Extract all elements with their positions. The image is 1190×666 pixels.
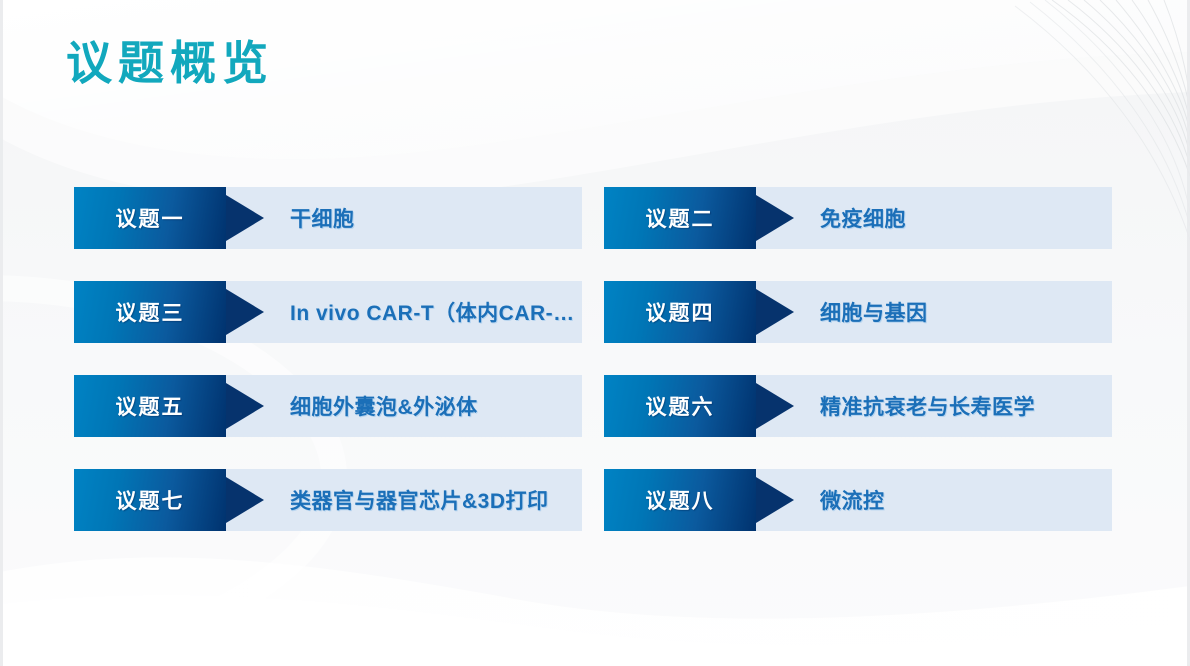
arrow-right-icon	[756, 383, 794, 429]
arrow-right-icon	[226, 289, 264, 335]
topic-title: 精准抗衰老与长寿医学	[820, 391, 1035, 421]
topic-text-wrap: 精准抗衰老与长寿医学	[756, 375, 1112, 437]
arrow-right-icon	[226, 477, 264, 523]
topic-tag: 议题六	[604, 375, 756, 437]
topic-row[interactable]: 议题三 In vivo CAR-T（体内CAR-T）	[74, 281, 582, 343]
topic-tag-label: 议题六	[646, 391, 715, 421]
topic-title: 类器官与器官芯片&3D打印	[290, 485, 549, 515]
topic-title: 微流控	[820, 485, 885, 515]
topic-row[interactable]: 议题一 干细胞	[74, 187, 582, 249]
topic-tag: 议题三	[74, 281, 226, 343]
topic-grid: 议题一 干细胞 议题二 免疫细胞 议题三 In vivo CAR-T（体内CAR…	[74, 187, 1114, 531]
arrow-right-icon	[756, 289, 794, 335]
topic-row[interactable]: 议题七 类器官与器官芯片&3D打印	[74, 469, 582, 531]
topic-tag-label: 议题二	[646, 203, 715, 233]
topic-tag: 议题二	[604, 187, 756, 249]
arrow-right-icon	[226, 195, 264, 241]
topic-tag-label: 议题八	[646, 485, 715, 515]
topic-tag-label: 议题四	[646, 297, 715, 327]
topic-tag-label: 议题三	[116, 297, 185, 327]
topic-title: 干细胞	[290, 203, 355, 233]
page-title-block: 议题概览	[66, 36, 274, 90]
topic-title: In vivo CAR-T（体内CAR-T）	[290, 297, 582, 327]
bottom-wave-shape	[0, 557, 1190, 666]
bottom-wave-shape-secondary	[0, 595, 1190, 666]
topic-text-wrap: 类器官与器官芯片&3D打印	[226, 469, 582, 531]
topic-tag: 议题一	[74, 187, 226, 249]
corner-line-fan	[1052, 0, 1190, 176]
topic-tag: 议题五	[74, 375, 226, 437]
topic-row[interactable]: 议题四 细胞与基因	[604, 281, 1112, 343]
topic-title: 细胞外囊泡&外泌体	[290, 391, 478, 421]
page-title: 议题概览	[66, 36, 274, 90]
arrow-right-icon	[756, 195, 794, 241]
topic-tag-label: 议题七	[116, 485, 185, 515]
topic-text-wrap: 细胞与基因	[756, 281, 1112, 343]
topic-text-wrap: In vivo CAR-T（体内CAR-T）	[226, 281, 582, 343]
topic-row[interactable]: 议题八 微流控	[604, 469, 1112, 531]
topic-tag: 议题四	[604, 281, 756, 343]
topic-title: 细胞与基因	[820, 297, 928, 327]
topic-text-wrap: 干细胞	[226, 187, 582, 249]
topic-row[interactable]: 议题六 精准抗衰老与长寿医学	[604, 375, 1112, 437]
topic-tag-label: 议题五	[116, 391, 185, 421]
topic-text-wrap: 免疫细胞	[756, 187, 1112, 249]
topic-text-wrap: 微流控	[756, 469, 1112, 531]
topic-tag: 议题八	[604, 469, 756, 531]
topic-row[interactable]: 议题二 免疫细胞	[604, 187, 1112, 249]
topic-title: 免疫细胞	[820, 203, 906, 233]
arrow-right-icon	[756, 477, 794, 523]
topic-tag: 议题七	[74, 469, 226, 531]
topic-text-wrap: 细胞外囊泡&外泌体	[226, 375, 582, 437]
arrow-right-icon	[226, 383, 264, 429]
topic-tag-label: 议题一	[116, 203, 185, 233]
topic-row[interactable]: 议题五 细胞外囊泡&外泌体	[74, 375, 582, 437]
slide-canvas: 议题概览 议题一 干细胞 议题二 免疫细胞 议题三	[0, 0, 1190, 666]
